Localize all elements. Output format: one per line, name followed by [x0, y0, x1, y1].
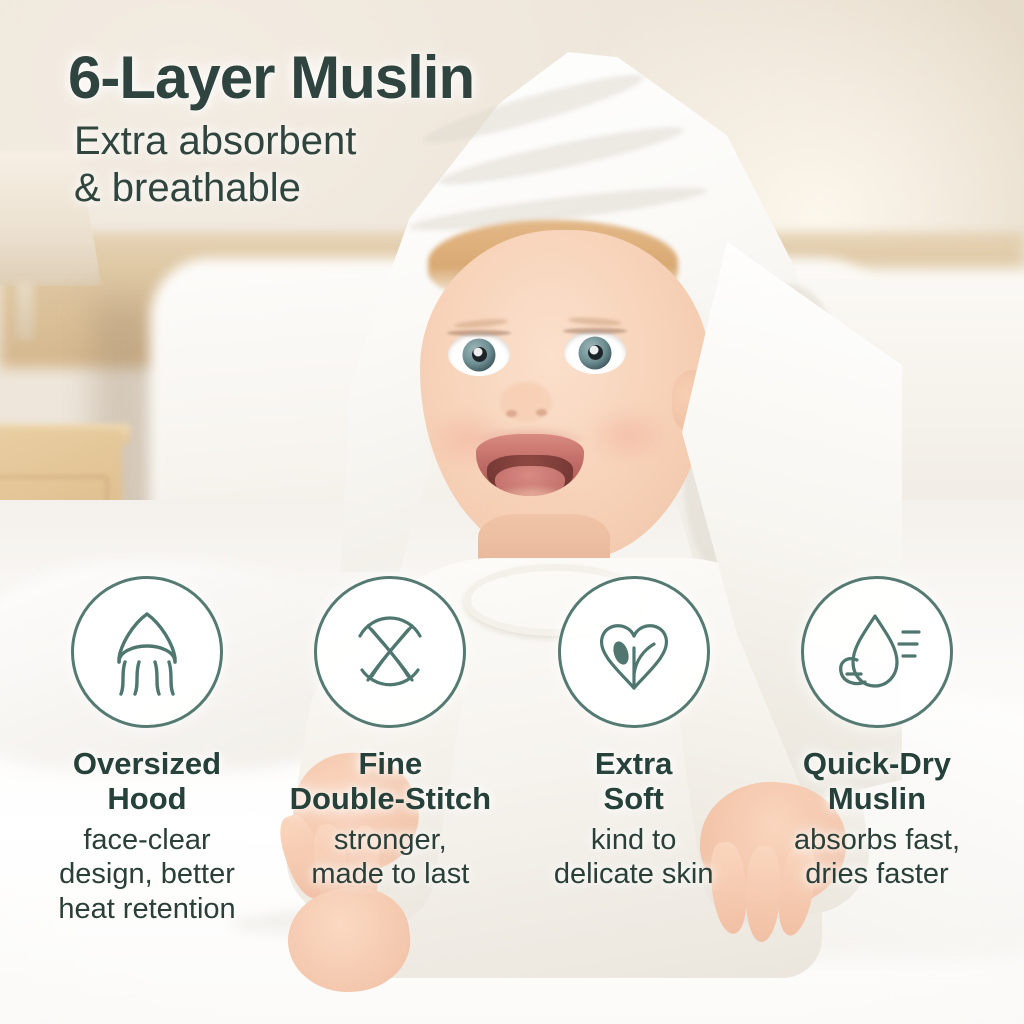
hood-icon: [95, 600, 199, 704]
feature-desc-line-2: made to last: [311, 857, 469, 892]
feature-extra-soft: Extra Soft kind to delicate skin: [515, 576, 753, 927]
feature-title-line-2: Hood: [73, 781, 221, 816]
headline-block: 6-Layer Muslin Extra absorbent & breatha…: [68, 46, 628, 212]
feature-title-line-1: Extra: [595, 746, 673, 781]
feature-title: Quick-Dry Muslin: [803, 746, 951, 817]
nostril-left: [506, 410, 517, 417]
heart-leaf-icon: [582, 600, 686, 704]
soft-icon-badge: [558, 576, 710, 728]
feature-fine-double-stitch: Fine Double-Stitch stronger, made to las…: [271, 576, 509, 927]
feature-title-line-1: Quick-Dry: [803, 746, 951, 781]
feature-title-line-1: Oversized: [73, 746, 221, 781]
subtitle-line-1: Extra absorbent: [74, 118, 628, 165]
eyelash-right: [563, 328, 627, 334]
feature-desc-line-2: dries faster: [794, 857, 960, 892]
feature-desc-line-2: design, better: [58, 857, 235, 892]
feature-title: Extra Soft: [595, 746, 673, 817]
feature-title: Oversized Hood: [73, 746, 221, 817]
lamp-neck: [16, 282, 34, 340]
feature-desc-line-1: face-clear: [58, 823, 235, 858]
quickdry-icon-badge: [801, 576, 953, 728]
feature-desc-line-3: heat retention: [58, 892, 235, 927]
eyelash-left: [447, 330, 511, 336]
eye-right: [564, 330, 626, 374]
feature-title-line-2: Muslin: [803, 781, 951, 816]
stitch-icon-badge: [314, 576, 466, 728]
feature-oversized-hood: Oversized Hood face-clear design, better…: [28, 576, 266, 927]
eye-left: [448, 332, 510, 376]
feature-title-line-2: Soft: [595, 781, 673, 816]
feature-title: Fine Double-Stitch: [290, 746, 492, 817]
feature-desc-line-1: absorbs fast,: [794, 823, 960, 858]
feature-list: Oversized Hood face-clear design, better…: [0, 576, 1024, 927]
feature-description: absorbs fast, dries faster: [794, 823, 960, 893]
feature-quick-dry-muslin: Quick-Dry Muslin absorbs fast, dries fas…: [758, 576, 996, 927]
feature-description: kind to delicate skin: [554, 823, 714, 893]
infographic-canvas: 6-Layer Muslin Extra absorbent & breatha…: [0, 0, 1024, 1024]
feature-description: face-clear design, better heat retention: [58, 823, 235, 927]
nostril-right: [536, 409, 547, 416]
feature-title-line-2: Double-Stitch: [290, 781, 492, 816]
water-droplet-icon: [825, 600, 929, 704]
feature-title-line-1: Fine: [290, 746, 492, 781]
crossed-needles-icon: [338, 600, 442, 704]
page-title: 6-Layer Muslin: [68, 46, 628, 110]
subtitle-line-2: & breathable: [74, 165, 628, 212]
feature-desc-line-1: stronger,: [311, 823, 469, 858]
feature-desc-line-2: delicate skin: [554, 857, 714, 892]
feature-description: stronger, made to last: [311, 823, 469, 893]
hood-icon-badge: [71, 576, 223, 728]
subtitle: Extra absorbent & breathable: [74, 118, 628, 212]
feature-desc-line-1: kind to: [554, 823, 714, 858]
cheek-right: [586, 404, 670, 466]
